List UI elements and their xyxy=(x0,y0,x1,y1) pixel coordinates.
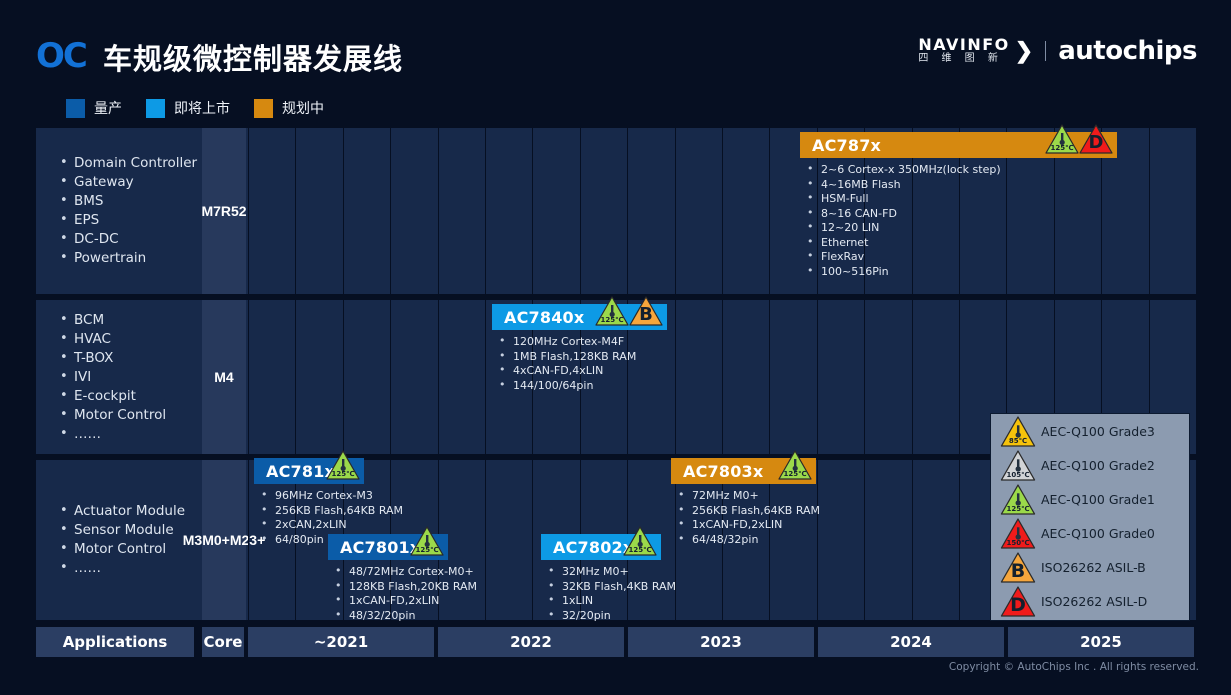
product-badges: 125℃D xyxy=(1045,124,1113,154)
status-legend-item-0: 量产 xyxy=(66,98,122,118)
axis-core-header: Core xyxy=(202,627,246,657)
product-header-bar[interactable]: AC7801x125℃ xyxy=(328,534,448,560)
badge-grade1: 125℃ xyxy=(595,296,629,326)
product-spec-item: 32/20pin xyxy=(545,609,661,624)
badge-temp-label: 85℃ xyxy=(1000,437,1036,445)
core-label: R52 xyxy=(221,202,247,221)
applications-list: Actuator ModuleSensor ModuleMotor Contro… xyxy=(58,502,185,578)
product-spec-item: 120MHz Cortex-M4F xyxy=(496,335,667,350)
product-spec-item: 72MHz M0+ xyxy=(675,489,816,504)
badge-temp-label: 125℃ xyxy=(1045,144,1079,152)
product-badges: 125℃B xyxy=(595,296,663,326)
badge-grade2: 105℃ xyxy=(1000,450,1036,481)
brand-bar: NAVINFO 四 维 图 新 ❯ autochips xyxy=(918,36,1197,66)
core-cell-0: M7R52 xyxy=(202,128,246,294)
badge-temp-label: 125℃ xyxy=(410,546,444,554)
badge-temp-label: 125℃ xyxy=(326,470,360,478)
cert-legend-label: AEC-Q100 Grade3 xyxy=(1041,424,1155,439)
product-spec-item: 8~16 CAN-FD xyxy=(804,207,1117,222)
product-block-ac7803x[interactable]: AC7803x125℃72MHz M0+256KB Flash,64KB RAM… xyxy=(671,458,816,547)
cert-legend-label: AEC-Q100 Grade0 xyxy=(1041,526,1155,541)
page-header: OC 车规级微控制器发展线 NAVINFO 四 维 图 新 ❯ autochip… xyxy=(0,0,1231,90)
product-spec-item: HSM-Full xyxy=(804,192,1117,207)
product-spec-item: 256KB Flash,64KB RAM xyxy=(258,504,364,519)
badge-temp-label: 105℃ xyxy=(1000,471,1036,479)
badge-grade1: 125℃ xyxy=(623,526,657,556)
badge-grade1: 125℃ xyxy=(1000,484,1036,515)
product-spec-item: 2~6 Cortex-x 350MHz(lock step) xyxy=(804,163,1117,178)
badge-letter-label: B xyxy=(629,304,663,325)
product-spec-item: 96MHz Cortex-M3 xyxy=(258,489,364,504)
product-spec-item: 32MHz M0+ xyxy=(545,565,661,580)
badge-grade1: 125℃ xyxy=(1045,124,1079,154)
product-spec-item: 48/32/20pin xyxy=(332,609,448,624)
axis-year-2025: 2025 xyxy=(1008,627,1196,657)
badge-grade1: 125℃ xyxy=(410,526,444,556)
badge-grade0: 150℃ xyxy=(1000,518,1036,549)
product-header-bar[interactable]: AC7840x125℃B xyxy=(492,304,667,330)
product-spec-item: 48/72MHz Cortex-M0+ xyxy=(332,565,448,580)
copyright-notice: Copyright © AutoChips Inc . All rights r… xyxy=(949,661,1199,673)
cert-legend-row-grade3: 85℃AEC-Q100 Grade3 xyxy=(991,414,1189,448)
product-header-bar[interactable]: AC7802x125℃ xyxy=(541,534,661,560)
cert-legend-row-grade2: 105℃AEC-Q100 Grade2 xyxy=(991,448,1189,482)
product-spec-item: 4~16MB Flash xyxy=(804,178,1117,193)
product-name: AC781x xyxy=(254,462,335,481)
product-spec-item: 1xLIN xyxy=(545,594,661,609)
product-name: AC7803x xyxy=(671,462,763,481)
cert-legend-icon: 85℃ xyxy=(995,416,1041,447)
autochips-wordmark: autochips xyxy=(1058,36,1197,66)
status-legend-swatch xyxy=(66,99,85,118)
badge-letter-label: D xyxy=(1000,594,1036,616)
core-label: M4 xyxy=(214,368,233,387)
cert-legend-row-asil-b: BISO26262 ASIL-B xyxy=(991,550,1189,584)
core-cell-1: M4 xyxy=(202,300,246,454)
product-badges: 125℃ xyxy=(778,450,812,480)
cert-legend-icon: 125℃ xyxy=(995,484,1041,515)
product-spec-list: 2~6 Cortex-x 350MHz(lock step)4~16MB Fla… xyxy=(800,163,1117,279)
cert-legend-icon: D xyxy=(995,586,1041,617)
product-header-bar[interactable]: AC781x125℃ xyxy=(254,458,364,484)
badge-temp-label: 125℃ xyxy=(595,316,629,324)
axis-year-2023: 2023 xyxy=(628,627,816,657)
application-item: BCM xyxy=(58,311,166,330)
cert-legend-row-asil-d: DISO26262 ASIL-D xyxy=(991,584,1189,618)
application-item: Domain Controller xyxy=(58,154,197,173)
application-item: DC-DC xyxy=(58,230,197,249)
timeline-axis: ApplicationsCore~20212022202320242025 xyxy=(36,627,1198,657)
axis-year-2022: 2022 xyxy=(438,627,626,657)
autochips-oc-logo: OC xyxy=(36,36,86,76)
page-title: 车规级微控制器发展线 xyxy=(103,36,403,78)
product-spec-item: 4xCAN-FD,4xLIN xyxy=(496,364,667,379)
core-label: M3 xyxy=(183,531,202,550)
badge-temp-label: 125℃ xyxy=(623,546,657,554)
cert-legend-label: ISO26262 ASIL-D xyxy=(1041,594,1147,609)
product-spec-item: 100~516Pin xyxy=(804,265,1117,280)
cert-legend-icon: B xyxy=(995,552,1041,583)
application-item: Motor Control xyxy=(58,406,166,425)
application-item: T-BOX xyxy=(58,349,166,368)
application-item: IVI xyxy=(58,368,166,387)
status-legend-item-1: 即将上市 xyxy=(146,98,230,118)
product-header-bar[interactable]: AC7803x125℃ xyxy=(671,458,816,484)
applications-cell-0: Domain ControllerGatewayBMSEPSDC-DCPower… xyxy=(36,128,196,294)
product-block-ac7802x[interactable]: AC7802x125℃32MHz M0+32KB Flash,4KB RAM1x… xyxy=(541,534,661,623)
product-block-ac7840x[interactable]: AC7840x125℃B120MHz Cortex-M4F1MB Flash,1… xyxy=(492,304,667,393)
status-legend-label: 规划中 xyxy=(282,98,324,118)
certification-legend: 85℃AEC-Q100 Grade3105℃AEC-Q100 Grade2125… xyxy=(990,413,1190,621)
product-spec-item: 1xCAN-FD,2xLIN xyxy=(675,518,816,533)
badge-letter-label: B xyxy=(1000,560,1036,582)
navinfo-logo-cn: 四 维 图 新 xyxy=(918,53,1009,65)
product-name: AC7801x xyxy=(328,538,420,557)
product-badges: 125℃ xyxy=(326,450,360,480)
product-spec-list: 120MHz Cortex-M4F1MB Flash,128KB RAM4xCA… xyxy=(492,335,667,393)
product-block-ac787x[interactable]: AC787x125℃D2~6 Cortex-x 350MHz(lock step… xyxy=(800,132,1117,279)
badge-asil-b: B xyxy=(1000,552,1036,583)
gridline xyxy=(485,128,486,620)
status-legend-swatch xyxy=(254,99,273,118)
product-spec-item: 1xCAN-FD,2xLIN xyxy=(332,594,448,609)
product-spec-list: 32MHz M0+32KB Flash,4KB RAM1xLIN32/20pin xyxy=(541,565,661,623)
badge-temp-label: 125℃ xyxy=(1000,505,1036,513)
cert-legend-icon: 150℃ xyxy=(995,518,1041,549)
status-legend-label: 量产 xyxy=(94,98,122,118)
product-name: AC7840x xyxy=(492,308,584,327)
applications-list: BCMHVACT-BOXIVIE-cockpitMotor Control…… xyxy=(58,311,166,444)
product-spec-item: 256KB Flash,64KB RAM xyxy=(675,504,816,519)
badge-asil-d: D xyxy=(1079,124,1113,154)
product-spec-item: 64/48/32pin xyxy=(675,533,816,548)
badge-grade1: 125℃ xyxy=(326,450,360,480)
application-item: E-cockpit xyxy=(58,387,166,406)
badge-temp-label: 150℃ xyxy=(1000,539,1036,547)
product-spec-list: 72MHz M0+256KB Flash,64KB RAM1xCAN-FD,2x… xyxy=(671,489,816,547)
axis-year-2021: ~2021 xyxy=(248,627,436,657)
badge-grade1: 125℃ xyxy=(778,450,812,480)
application-item: Sensor Module xyxy=(58,521,185,540)
product-spec-item: 32KB Flash,4KB RAM xyxy=(545,580,661,595)
application-item: EPS xyxy=(58,211,197,230)
product-block-ac7801x[interactable]: AC7801x125℃48/72MHz Cortex-M0+128KB Flas… xyxy=(328,534,448,623)
badge-letter-label: D xyxy=(1079,132,1113,153)
product-spec-item: 1MB Flash,128KB RAM xyxy=(496,350,667,365)
navinfo-chevron-icon: ❯ xyxy=(1015,38,1033,64)
application-item: Motor Control xyxy=(58,540,185,559)
core-label: M0+ xyxy=(202,531,230,550)
applications-list: Domain ControllerGatewayBMSEPSDC-DCPower… xyxy=(58,154,197,268)
product-badges: 125℃ xyxy=(623,526,657,556)
brand-divider xyxy=(1045,41,1046,61)
gridline xyxy=(1196,128,1197,620)
core-label: M7 xyxy=(201,202,220,221)
navinfo-logo-en: NAVINFO xyxy=(918,37,1009,54)
product-name: AC7802x xyxy=(541,538,633,557)
axis-applications-header: Applications xyxy=(36,627,196,657)
badge-asil-b: B xyxy=(629,296,663,326)
product-header-bar[interactable]: AC787x125℃D xyxy=(800,132,1117,158)
application-item: …… xyxy=(58,559,185,578)
product-spec-item: 2xCAN,2xLIN xyxy=(258,518,364,533)
product-badges: 125℃ xyxy=(410,526,444,556)
cert-legend-row-grade1: 125℃AEC-Q100 Grade1 xyxy=(991,482,1189,516)
core-cell-2: M3M0+M23+ xyxy=(202,460,246,620)
product-spec-item: 128KB Flash,20KB RAM xyxy=(332,580,448,595)
applications-cell-1: BCMHVACT-BOXIVIE-cockpitMotor Control…… xyxy=(36,300,196,454)
cert-legend-row-grade0: 150℃AEC-Q100 Grade0 xyxy=(991,516,1189,550)
application-item: BMS xyxy=(58,192,197,211)
badge-temp-label: 125℃ xyxy=(778,470,812,478)
product-spec-item: 12~20 LIN xyxy=(804,221,1117,236)
axis-year-2024: 2024 xyxy=(818,627,1006,657)
status-legend: 量产即将上市规划中 xyxy=(66,98,324,118)
product-spec-item: 144/100/64pin xyxy=(496,379,667,394)
product-spec-list: 48/72MHz Cortex-M0+128KB Flash,20KB RAM1… xyxy=(328,565,448,623)
cert-legend-label: ISO26262 ASIL-B xyxy=(1041,560,1146,575)
application-item: HVAC xyxy=(58,330,166,349)
gridline xyxy=(248,128,249,620)
badge-asil-d: D xyxy=(1000,586,1036,617)
product-name: AC787x xyxy=(800,136,881,155)
status-legend-label: 即将上市 xyxy=(174,98,230,118)
product-spec-item: FlexRav xyxy=(804,250,1117,265)
navinfo-logo: NAVINFO 四 维 图 新 ❯ xyxy=(918,37,1033,66)
application-item: Powertrain xyxy=(58,249,197,268)
cert-legend-icon: 105℃ xyxy=(995,450,1041,481)
applications-cell-2: Actuator ModuleSensor ModuleMotor Contro… xyxy=(36,460,196,620)
application-item: Actuator Module xyxy=(58,502,185,521)
application-item: Gateway xyxy=(58,173,197,192)
status-legend-swatch xyxy=(146,99,165,118)
cert-legend-label: AEC-Q100 Grade1 xyxy=(1041,492,1155,507)
badge-grade3: 85℃ xyxy=(1000,416,1036,447)
product-spec-item: Ethernet xyxy=(804,236,1117,251)
status-legend-item-2: 规划中 xyxy=(254,98,324,118)
cert-legend-label: AEC-Q100 Grade2 xyxy=(1041,458,1155,473)
application-item: …… xyxy=(58,425,166,444)
